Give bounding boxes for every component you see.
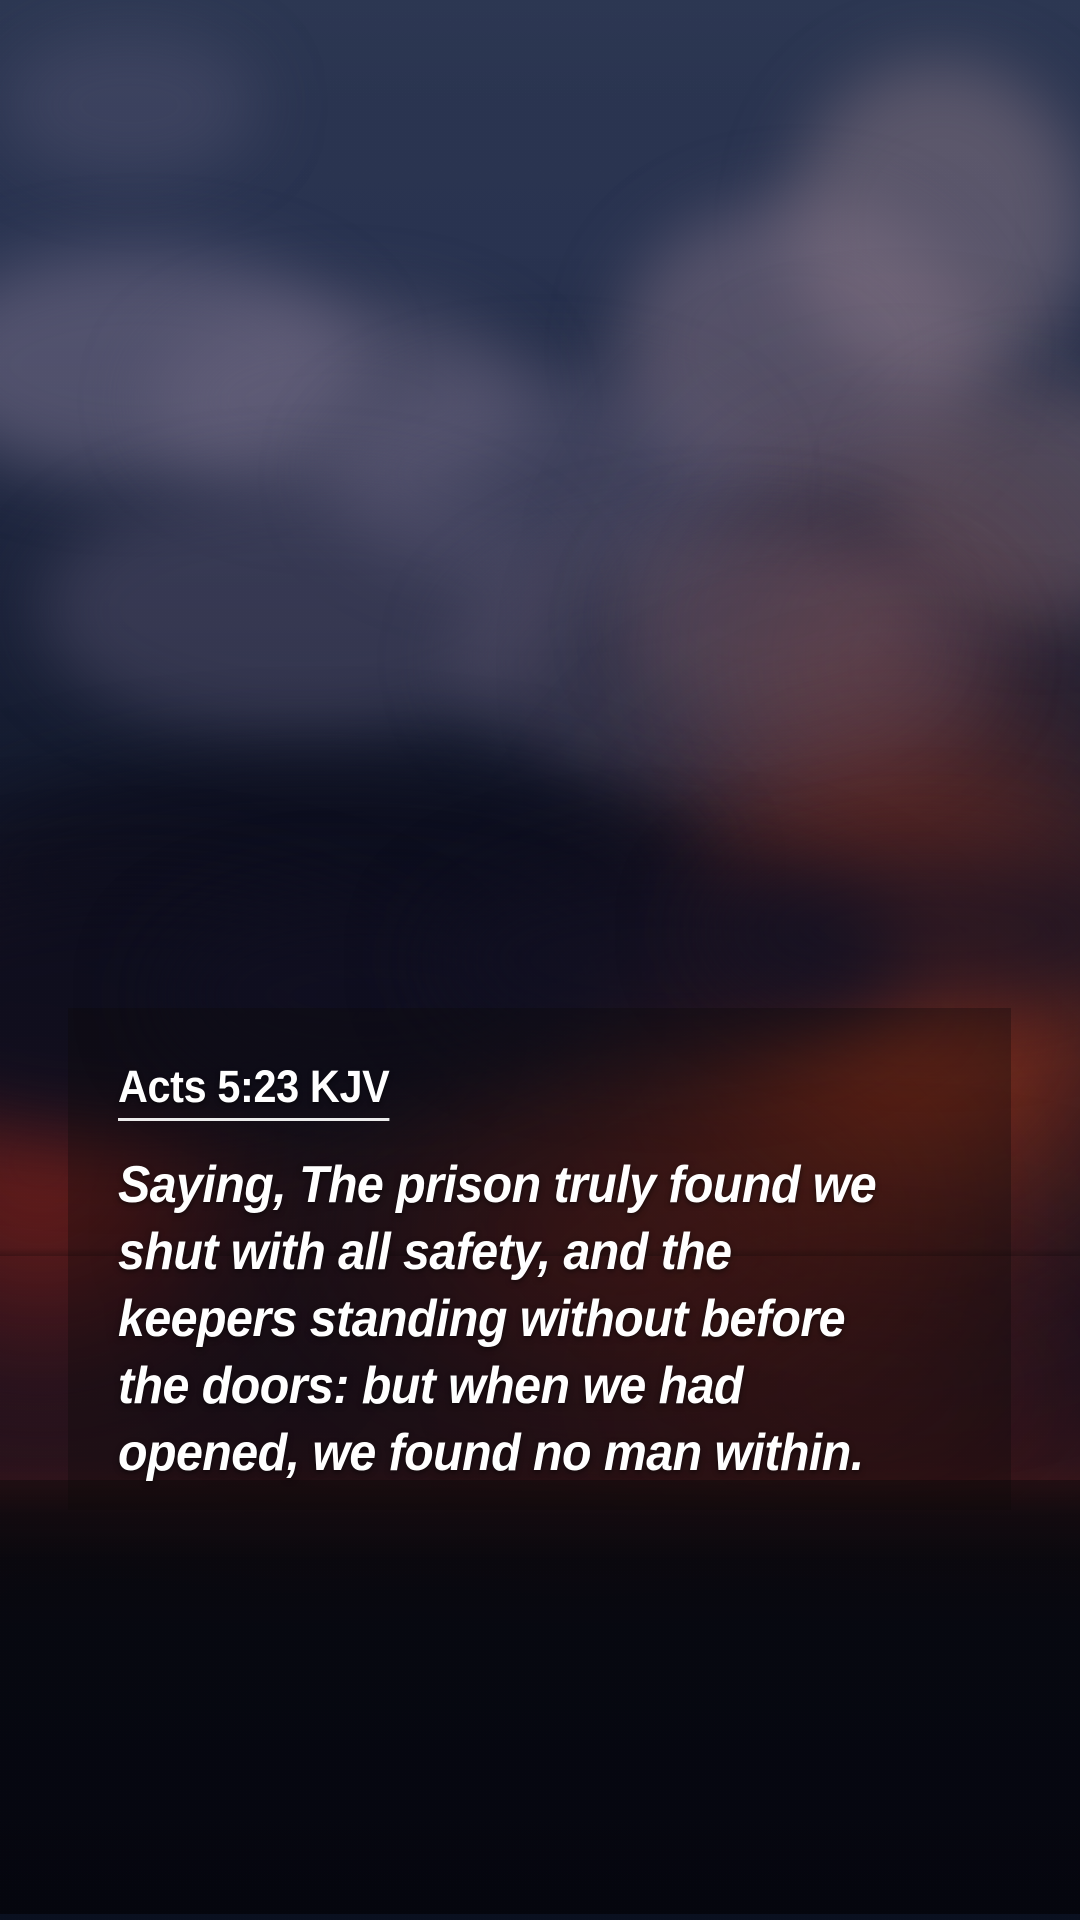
- background-photo: [0, 0, 1080, 1920]
- verse-text: Saying, The prison truly found we shut w…: [118, 1152, 893, 1487]
- verse-reference: Acts 5:23 KJV: [118, 1064, 389, 1121]
- bottom-edge: [0, 1914, 1080, 1920]
- foreground-silhouette: [0, 1480, 1080, 1920]
- verse-overlay-card: Acts 5:23 KJV Saying, The prison truly f…: [68, 1008, 1011, 1510]
